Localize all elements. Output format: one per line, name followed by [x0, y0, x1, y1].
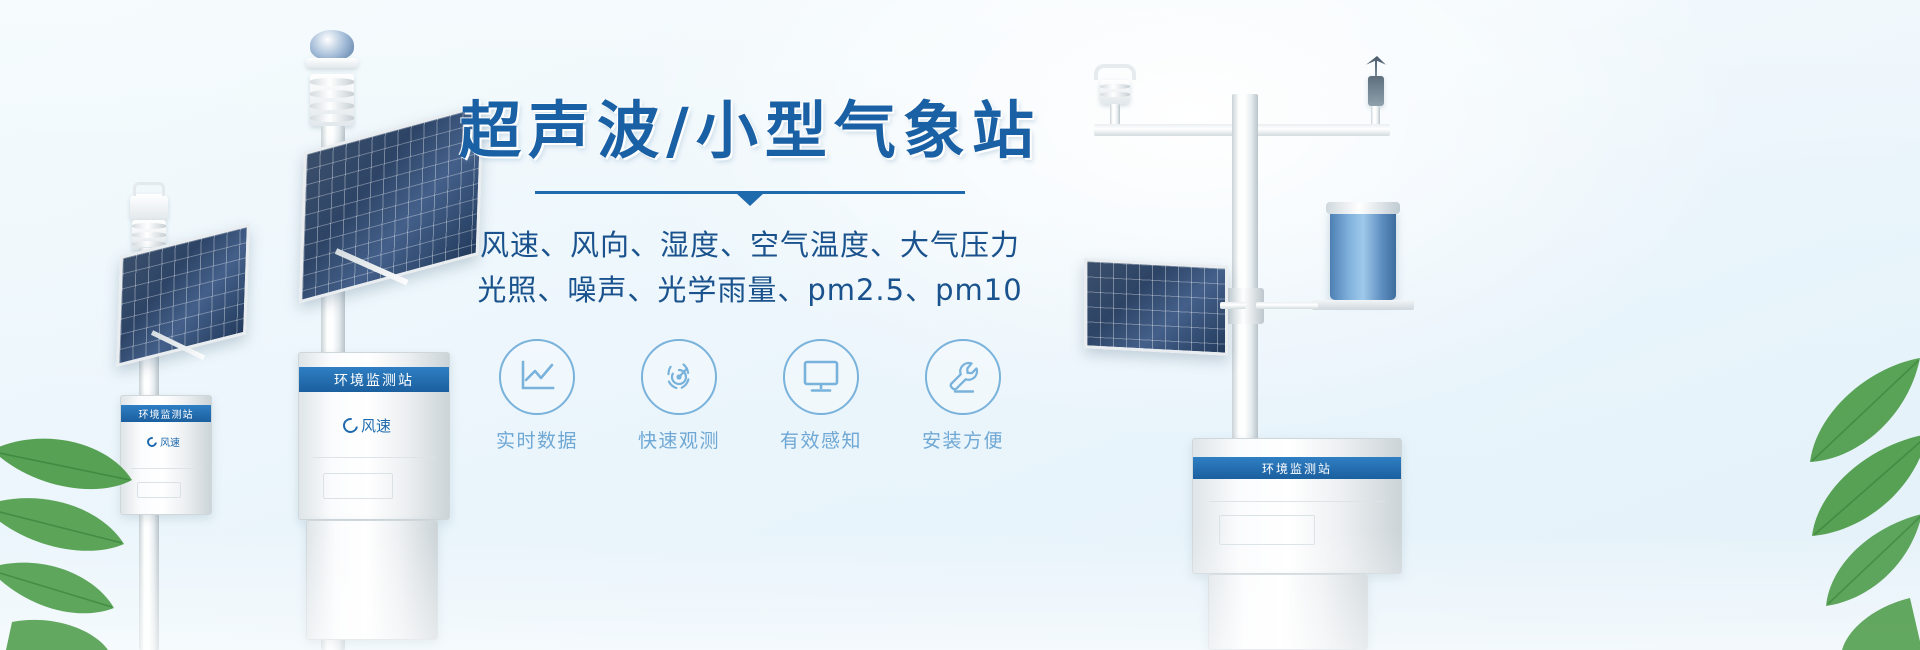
- feature-icon-circle: [499, 339, 575, 415]
- ultrasonic-sensor-left-small: [130, 194, 168, 220]
- wind-vane-icon: [1366, 56, 1386, 78]
- solar-panel-right: [1084, 258, 1228, 356]
- cabinet-label-text: 环境监测站: [334, 370, 414, 390]
- optical-rain-gauge-icon: [310, 30, 354, 60]
- feature-label: 实时数据: [482, 426, 592, 453]
- subtitle-block: 风速、风向、湿度、空气温度、大气压力 光照、噪声、光学雨量、pm2.5、pm10: [450, 223, 1050, 313]
- title-divider: [535, 187, 965, 209]
- feature-icon-circle: [783, 339, 859, 415]
- sensor-prongs-left-small: [133, 182, 165, 196]
- enclosure-cabinet-right: 环境监测站: [1192, 438, 1402, 574]
- line-chart-icon: [517, 358, 557, 396]
- cabinet-label-text: 环境监测站: [1262, 460, 1332, 477]
- brand-logo-left-tall: 风速: [343, 415, 391, 436]
- monitor-icon: [800, 358, 842, 396]
- feature-icon-circle: [641, 339, 717, 415]
- feature-label: 安装方便: [908, 426, 1018, 453]
- feature-label: 快速观测: [624, 426, 734, 453]
- feature-item-effective-sensing[interactable]: 有效感知: [766, 339, 876, 453]
- wrench-icon: [942, 356, 984, 398]
- rain-gauge-shelf: [1312, 300, 1414, 310]
- chevron-down-icon: [736, 193, 764, 206]
- feature-icon-circle: [925, 339, 1001, 415]
- panel-support-right: [1220, 302, 1246, 309]
- enclosure-cabinet-left-tall: 环境监测站 风速: [298, 352, 450, 520]
- tipping-bucket-rain-gauge: [1330, 208, 1396, 300]
- lower-box-right: [1208, 574, 1368, 650]
- sensor-cap-left-tall: [306, 58, 358, 68]
- subtitle-line-1: 风速、风向、湿度、空气温度、大气压力: [450, 223, 1050, 268]
- cabinet-vent-left-tall: [323, 473, 393, 499]
- subtitle-line-2: 光照、噪声、光学雨量、pm2.5、pm10: [450, 268, 1050, 313]
- feature-list: 实时数据 快速观: [450, 339, 1050, 453]
- cabinet-seam-right: [1209, 501, 1385, 502]
- cabinet-label-band-right: 环境监测站: [1193, 457, 1401, 479]
- wind-vane-body-right: [1368, 76, 1384, 106]
- palm-leaf-bottom-left: [0, 330, 212, 650]
- feature-item-fast-observation[interactable]: 快速观测: [624, 339, 734, 453]
- page-title: 超声波/小型气象站: [450, 96, 1050, 165]
- banner-content: 超声波/小型气象站 风速、风向、湿度、空气温度、大气压力 光照、噪声、光学雨量、…: [450, 96, 1050, 453]
- product-banner: 环境监测站 风速 环境监测站: [0, 0, 1920, 650]
- feature-item-easy-install[interactable]: 安装方便: [908, 339, 1018, 453]
- anemometer-body-right: [1100, 80, 1130, 104]
- radiation-shield-left-tall: [310, 74, 354, 126]
- cabinet-seam-left-tall: [313, 457, 435, 458]
- weather-station-right: 环境监测站: [1080, 50, 1420, 650]
- brand-name-text: 风速: [361, 415, 391, 436]
- ultrasonic-anemometer-icon: [1094, 64, 1136, 80]
- shelf-support-right: [1256, 302, 1318, 309]
- feature-item-realtime-data[interactable]: 实时数据: [482, 339, 592, 453]
- cabinet-vent-right: [1219, 515, 1315, 545]
- rain-gauge-rim: [1326, 202, 1400, 214]
- radar-sensing-icon: [658, 356, 700, 398]
- feature-label: 有效感知: [766, 426, 876, 453]
- brand-mark-icon: [340, 415, 361, 436]
- palm-leaf-bottom-right: [1670, 298, 1920, 650]
- lower-box-left-tall: [306, 520, 438, 640]
- cabinet-label-band-left-tall: 环境监测站: [299, 367, 449, 392]
